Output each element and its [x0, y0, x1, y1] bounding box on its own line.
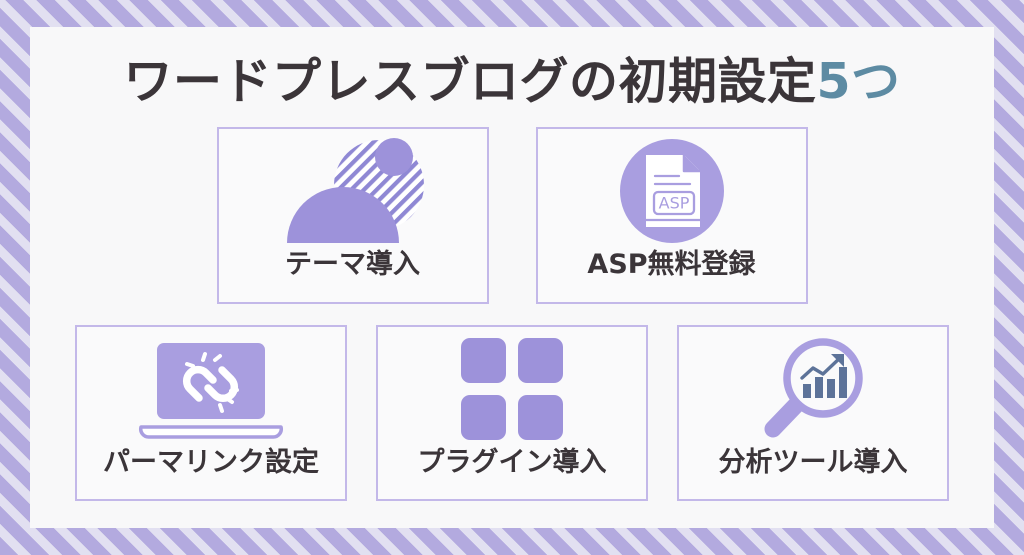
card-label: ASP無料登録	[587, 251, 755, 278]
card-label: プラグイン導入	[418, 449, 607, 476]
card-theme-install[interactable]: テーマ導入	[217, 127, 489, 304]
asp-document-icon: ASP	[538, 133, 806, 249]
page-title-accent: 5つ	[816, 53, 900, 110]
card-analytics-tools[interactable]: 分析ツール導入	[677, 325, 949, 501]
magnifier-chart-icon	[679, 329, 947, 449]
card-row-bottom: パーマリンク設定 プラグイン導入	[30, 325, 994, 501]
card-label: パーマリンク設定	[103, 449, 319, 476]
content-panel: ワードプレスブログの初期設定5つ	[30, 27, 994, 528]
page-title: ワードプレスブログの初期設定5つ	[123, 56, 900, 107]
theme-dome-icon	[219, 133, 487, 249]
laptop-link-icon	[77, 329, 345, 449]
plugin-grid-icon	[378, 329, 646, 449]
page-title-main: ワードプレスブログの初期設定	[123, 53, 816, 110]
card-asp-registration[interactable]: ASP ASP無料登録	[536, 127, 808, 304]
card-permalink-settings[interactable]: パーマリンク設定	[75, 325, 347, 501]
card-plugin-install[interactable]: プラグイン導入	[376, 325, 648, 501]
card-row-top: テーマ導入	[30, 127, 994, 304]
asp-document-text: ASP	[658, 194, 689, 213]
infographic-canvas: ワードプレスブログの初期設定5つ	[0, 0, 1024, 555]
card-label: テーマ導入	[285, 251, 420, 278]
card-label: 分析ツール導入	[719, 449, 908, 476]
